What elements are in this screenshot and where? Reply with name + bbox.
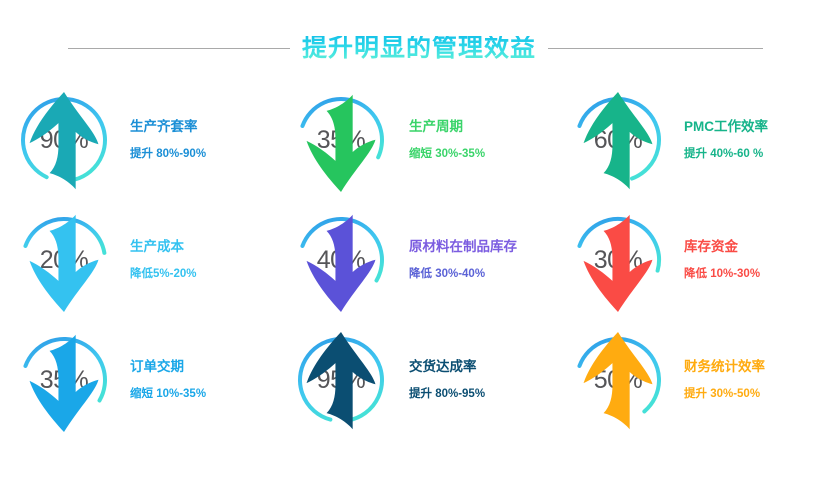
metric-text-block: 财务统计效率提升 30%-50% — [684, 360, 765, 400]
gauge-center: 20% — [14, 210, 114, 310]
arrow-down-icon — [291, 92, 391, 192]
gauge-ring: 30% — [568, 210, 668, 310]
metric-card: 35%订单交期缩短 10%-35% — [0, 320, 277, 440]
gauge-center: 50% — [568, 330, 668, 430]
metric-card: 60%PMC工作效率提升 40%-60 % — [554, 80, 831, 200]
metric-card: 40%原材料在制品库存降低 30%-40% — [277, 200, 554, 320]
page-title: 提升明显的管理效益 — [302, 36, 536, 61]
infographic-page: 提升明显的管理效益 90%生产齐套率提升 80%-90%35%生产周期缩短 30… — [0, 0, 831, 479]
arrow-up-icon — [291, 332, 391, 432]
arrow-up-icon — [568, 332, 668, 432]
gauge-ring: 20% — [14, 210, 114, 310]
metric-subtitle: 降低 30%-40% — [409, 268, 517, 281]
metric-card: 50%财务统计效率提升 30%-50% — [554, 320, 831, 440]
metric-text-block: 订单交期缩短 10%-35% — [130, 360, 206, 400]
arrow-down-icon — [568, 212, 668, 312]
metric-card: 20%生产成本降低5%-20% — [0, 200, 277, 320]
arrow-down-icon — [14, 212, 114, 312]
title-rule-right — [548, 48, 763, 49]
metric-card: 30%库存资金降低 10%-30% — [554, 200, 831, 320]
gauge-center: 90% — [14, 90, 114, 190]
metric-title: 订单交期 — [130, 360, 206, 375]
metric-card: 90%生产齐套率提升 80%-90% — [0, 80, 277, 200]
metric-text-block: 库存资金降低 10%-30% — [684, 240, 760, 280]
gauge-center: 35% — [14, 330, 114, 430]
metric-title: 原材料在制品库存 — [409, 240, 517, 255]
gauge-ring: 90% — [14, 90, 114, 190]
metric-title: 生产成本 — [130, 240, 196, 255]
metric-text-block: 生产成本降低5%-20% — [130, 240, 196, 280]
metric-subtitle: 提升 40%-60 % — [684, 148, 768, 161]
title-rule-left — [68, 48, 290, 49]
metric-subtitle: 提升 30%-50% — [684, 388, 765, 401]
metric-card: 95%交货达成率提升 80%-95% — [277, 320, 554, 440]
metric-title: 库存资金 — [684, 240, 760, 255]
metric-text-block: 生产齐套率提升 80%-90% — [130, 120, 206, 160]
metric-title: 财务统计效率 — [684, 360, 765, 375]
arrow-down-icon — [291, 212, 391, 312]
metric-text-block: 生产周期缩短 30%-35% — [409, 120, 485, 160]
gauge-center: 35% — [291, 90, 391, 190]
gauge-ring: 35% — [291, 90, 391, 190]
metric-title: 生产齐套率 — [130, 120, 206, 135]
metric-text-block: 交货达成率提升 80%-95% — [409, 360, 485, 400]
page-header: 提升明显的管理效益 — [0, 28, 831, 68]
metric-title: 生产周期 — [409, 120, 485, 135]
metric-subtitle: 提升 80%-90% — [130, 148, 206, 161]
gauge-ring: 95% — [291, 330, 391, 430]
gauge-ring: 60% — [568, 90, 668, 190]
metric-card: 35%生产周期缩短 30%-35% — [277, 80, 554, 200]
metric-text-block: PMC工作效率提升 40%-60 % — [684, 120, 768, 160]
gauge-center: 30% — [568, 210, 668, 310]
gauge-ring: 40% — [291, 210, 391, 310]
gauge-center: 40% — [291, 210, 391, 310]
metric-text-block: 原材料在制品库存降低 30%-40% — [409, 240, 517, 280]
arrow-up-icon — [14, 92, 114, 192]
gauge-ring: 35% — [14, 330, 114, 430]
metric-subtitle: 降低 10%-30% — [684, 268, 760, 281]
metric-card-grid: 90%生产齐套率提升 80%-90%35%生产周期缩短 30%-35%60%PM… — [0, 80, 831, 479]
metric-subtitle: 降低5%-20% — [130, 268, 196, 281]
gauge-center: 95% — [291, 330, 391, 430]
arrow-down-icon — [14, 332, 114, 432]
metric-title: 交货达成率 — [409, 360, 485, 375]
metric-title: PMC工作效率 — [684, 120, 768, 135]
metric-subtitle: 缩短 10%-35% — [130, 388, 206, 401]
gauge-ring: 50% — [568, 330, 668, 430]
metric-subtitle: 缩短 30%-35% — [409, 148, 485, 161]
arrow-up-icon — [568, 92, 668, 192]
metric-subtitle: 提升 80%-95% — [409, 388, 485, 401]
gauge-center: 60% — [568, 90, 668, 190]
